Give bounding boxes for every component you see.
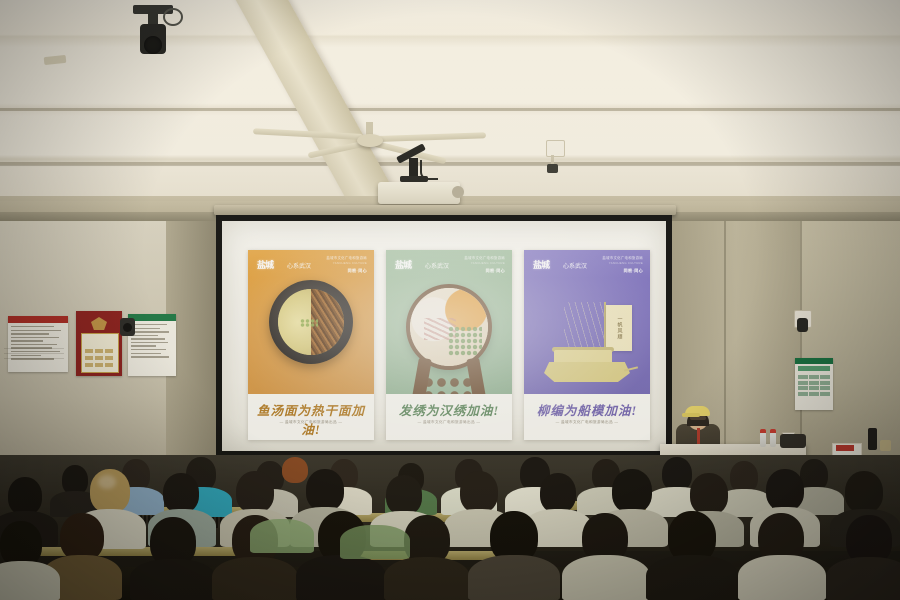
ceiling-seam	[0, 108, 900, 111]
poster-subcaption: — 盐城市文化广电和旅游局出品 —	[386, 420, 512, 425]
poster-yutangmian: 盐城 心系武汉 盐城市文化广电和旅游局 YANCHENG CULTURE 同根·…	[248, 250, 374, 440]
sail-text: 一帆风顺	[616, 316, 623, 340]
water-bottle	[760, 432, 766, 447]
issuer-line-en: YANCHENG CULTURE	[326, 261, 367, 265]
poster-artwork: 盐城 心系武汉 盐城市文化广电和旅游局 YANCHENG CULTURE 同根·…	[524, 250, 650, 394]
desk-equipment	[880, 440, 891, 451]
surveillance-camera-icon	[797, 318, 808, 332]
speaker-lens	[123, 323, 132, 332]
poster-tag: 同根·同心	[464, 268, 505, 274]
certificate-inner	[81, 333, 119, 373]
notice-maroon-certificate	[76, 311, 122, 376]
ceiling-beam	[228, 0, 394, 213]
poster-subcaption: — 盐城市文化广电和旅游局出品 —	[248, 420, 374, 425]
issuer-line-en: YANCHENG CULTURE	[464, 261, 505, 265]
wall-faint-text	[4, 348, 64, 362]
boat-cabin	[554, 350, 612, 364]
desk-sign-red-band	[836, 445, 854, 451]
boat-model-icon	[544, 362, 630, 382]
embroidery-dots	[448, 326, 482, 356]
bowl-garnish	[300, 319, 318, 327]
desk-equipment	[868, 428, 877, 450]
boat-sail: 一帆风顺	[606, 305, 632, 351]
brand-subtitle: 心系武汉	[287, 261, 311, 270]
notice-text-lines	[128, 321, 176, 358]
projector-icon: EPSON	[378, 182, 460, 204]
projector-pole	[409, 158, 418, 178]
poster-caption: 发绣为汉绣加油!	[386, 400, 512, 419]
boat-rigging	[564, 302, 606, 352]
bowl-interior	[278, 289, 344, 355]
notice-header-band	[795, 358, 833, 364]
poster-tag: 同根·同心	[326, 268, 367, 274]
poster-liubian: 盐城 心系武汉 盐城市文化广电和旅游局 YANCHENG CULTURE 同根·…	[524, 250, 650, 440]
desk-bag	[780, 434, 806, 448]
screen-roller-bar	[214, 205, 676, 215]
crest-icon	[91, 317, 107, 330]
brand-subtitle: 心系武汉	[563, 261, 587, 270]
poster-header-right: 盐城市文化广电和旅游局 YANCHENG CULTURE 同根·同心	[602, 256, 643, 274]
poster-caption-area: 柳编为船模加油! — 盐城市文化广电和旅游局出品 —	[524, 394, 650, 440]
bowl-icon	[269, 280, 353, 364]
poster-artwork: 盐城 心系武汉 盐城市文化广电和旅游局 YANCHENG CULTURE 同根·…	[248, 250, 374, 394]
projector-lens	[452, 186, 464, 198]
presenter-lanyard	[697, 428, 700, 444]
embroidery-stand	[410, 358, 488, 394]
poster-header: 盐城 心系武汉 盐城市文化广电和旅游局 YANCHENG CULTURE 同根·…	[248, 250, 374, 278]
lecture-hall-photo: EPSON	[0, 0, 900, 600]
ceiling-fan-icon	[357, 134, 383, 147]
poster-header-right: 盐城市文化广电和旅游局 YANCHENG CULTURE 同根·同心	[464, 256, 505, 274]
poster-artwork: 盐城 心系武汉 盐城市文化广电和旅游局 YANCHENG CULTURE 同根·…	[386, 250, 512, 394]
poster-header-right: 盐城市文化广电和旅游局 YANCHENG CULTURE 同根·同心	[326, 256, 367, 274]
poster-subcaption: — 盐城市文化广电和旅游局出品 —	[524, 420, 650, 425]
poster-tag: 同根·同心	[602, 268, 643, 274]
notice-grid	[795, 373, 833, 398]
notice-green-safety	[795, 358, 833, 410]
notice-header-band	[128, 314, 176, 321]
poster-caption: 鱼汤面为热干面加油!	[248, 400, 374, 438]
spotlight-ring	[163, 8, 183, 26]
ceiling-seam	[0, 162, 900, 165]
presenter-cap-brim	[682, 413, 700, 417]
stand-carving	[422, 376, 476, 394]
water-bottle	[770, 432, 776, 447]
poster-caption-area: 鱼汤面为热干面加油! — 盐城市文化广电和旅游局出品 —	[248, 394, 374, 440]
sensor-head	[547, 164, 558, 173]
poster-header: 盐城 心系武汉 盐城市文化广电和旅游局 YANCHENG CULTURE 同根·…	[524, 250, 650, 278]
poster-header: 盐城 心系武汉 盐城市文化广电和旅游局 YANCHENG CULTURE 同根·…	[386, 250, 512, 278]
poster-caption: 柳编为船模加油!	[524, 400, 650, 419]
notice-red-header	[8, 316, 68, 372]
seated-audience	[0, 455, 900, 600]
brand-logo: 盐城	[533, 258, 559, 270]
poster-faxiu: 盐城 心系武汉 盐城市文化广电和旅游局 YANCHENG CULTURE 同根·…	[386, 250, 512, 440]
notice-header-band	[8, 316, 68, 323]
brand-logo: 盐城	[395, 258, 421, 270]
notice-subheader	[798, 366, 830, 371]
brand-logo: 盐城	[257, 258, 283, 270]
issuer-line-en: YANCHENG CULTURE	[602, 261, 643, 265]
brand-subtitle: 心系武汉	[425, 261, 449, 270]
ceiling-sensor-icon	[546, 140, 565, 157]
notice-green-header	[128, 314, 176, 376]
poster-caption-area: 发绣为汉绣加油! — 盐城市文化广电和旅游局出品 —	[386, 394, 512, 440]
spotlight-lens	[144, 36, 162, 54]
